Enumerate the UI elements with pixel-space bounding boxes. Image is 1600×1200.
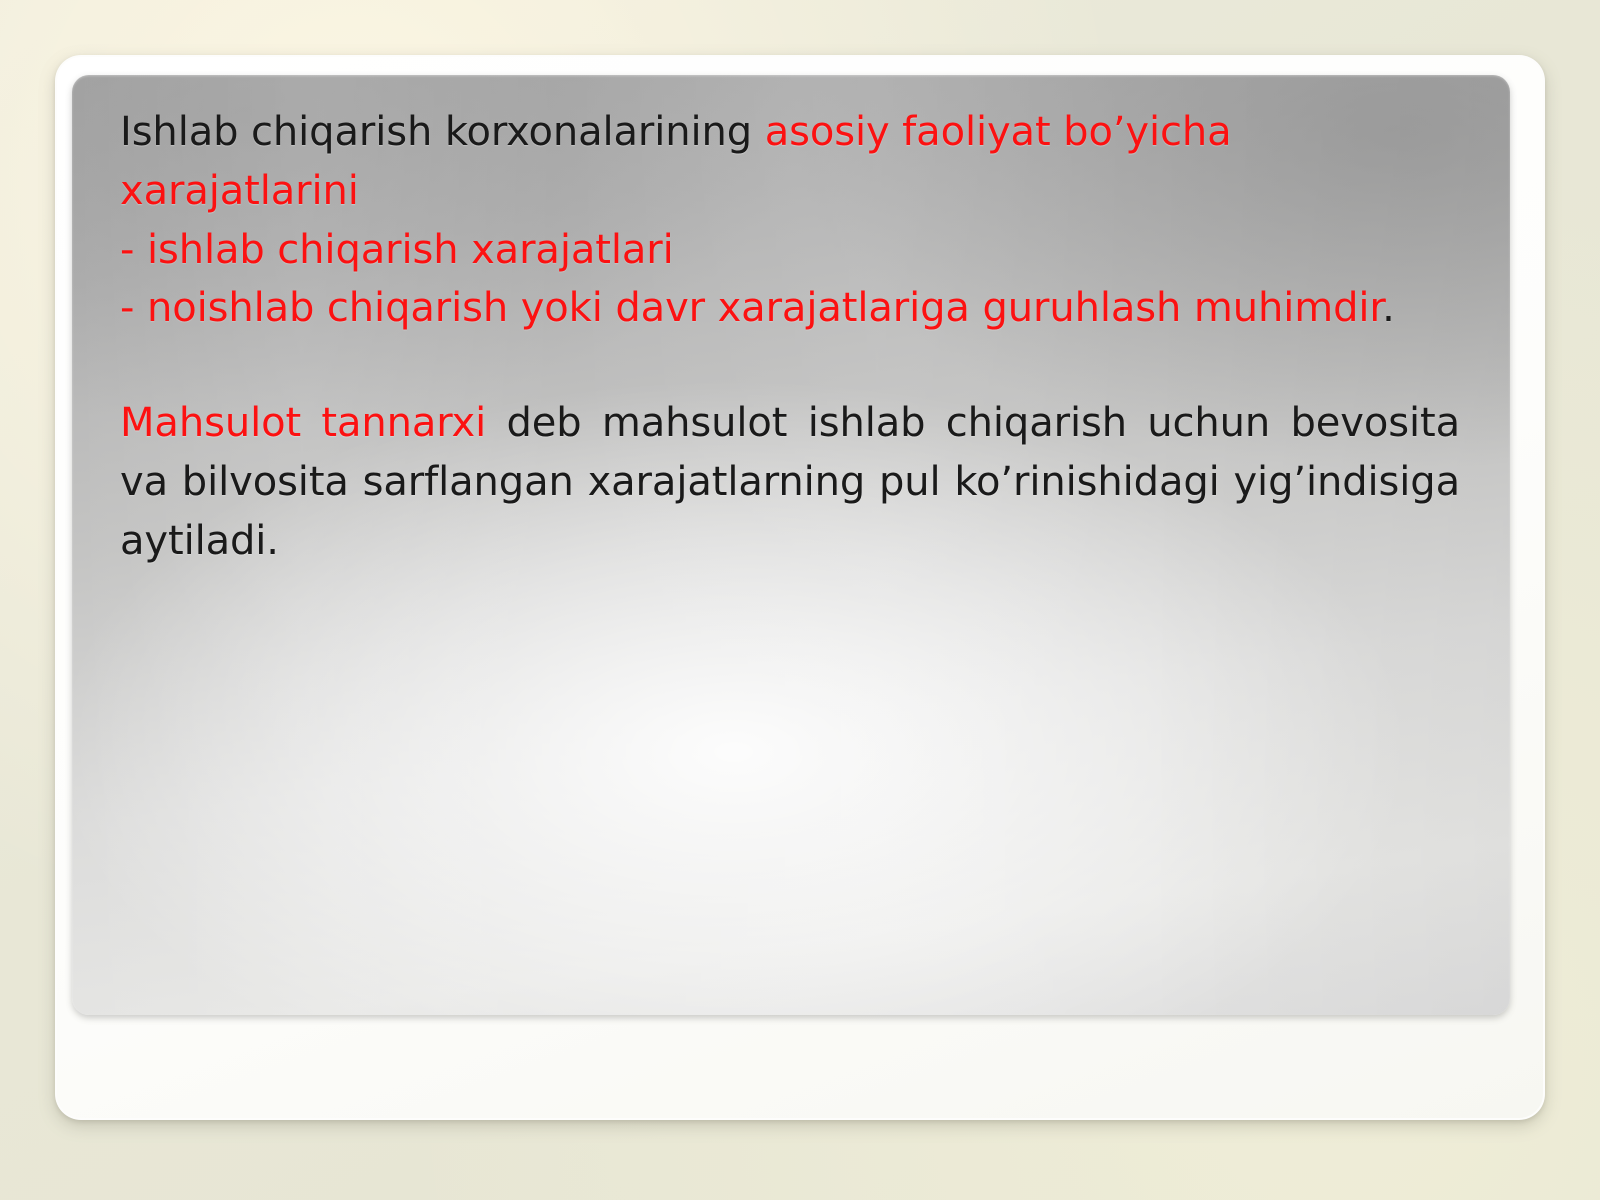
- slide-content-panel: Ishlab chiqarish korxonalarining asosiy …: [72, 75, 1510, 1015]
- bullet-item-2-tail: .: [1382, 285, 1395, 331]
- paragraph-spacer: [120, 338, 1460, 394]
- paragraph-intro: Ishlab chiqarish korxonalarining asosiy …: [120, 103, 1460, 221]
- bullet-item-1: - ishlab chiqarish xarajatlari: [120, 221, 1460, 280]
- slide-frame: Ishlab chiqarish korxonalarining asosiy …: [55, 55, 1545, 1120]
- bullet-item-1-text: - ishlab chiqarish xarajatlari: [120, 227, 674, 273]
- slide-text-body: Ishlab chiqarish korxonalarining asosiy …: [120, 103, 1460, 571]
- intro-black-segment: Ishlab chiqarish korxonalarining: [120, 109, 765, 155]
- paragraph-definition: Mahsulot tannarxi deb mahsulot ishlab ch…: [120, 394, 1460, 570]
- definition-term: Mahsulot tannarxi: [120, 400, 486, 446]
- bullet-item-2-text: - noishlab chiqarish yoki davr xarajatla…: [120, 285, 1382, 331]
- bullet-item-2: - noishlab chiqarish yoki davr xarajatla…: [120, 279, 1460, 338]
